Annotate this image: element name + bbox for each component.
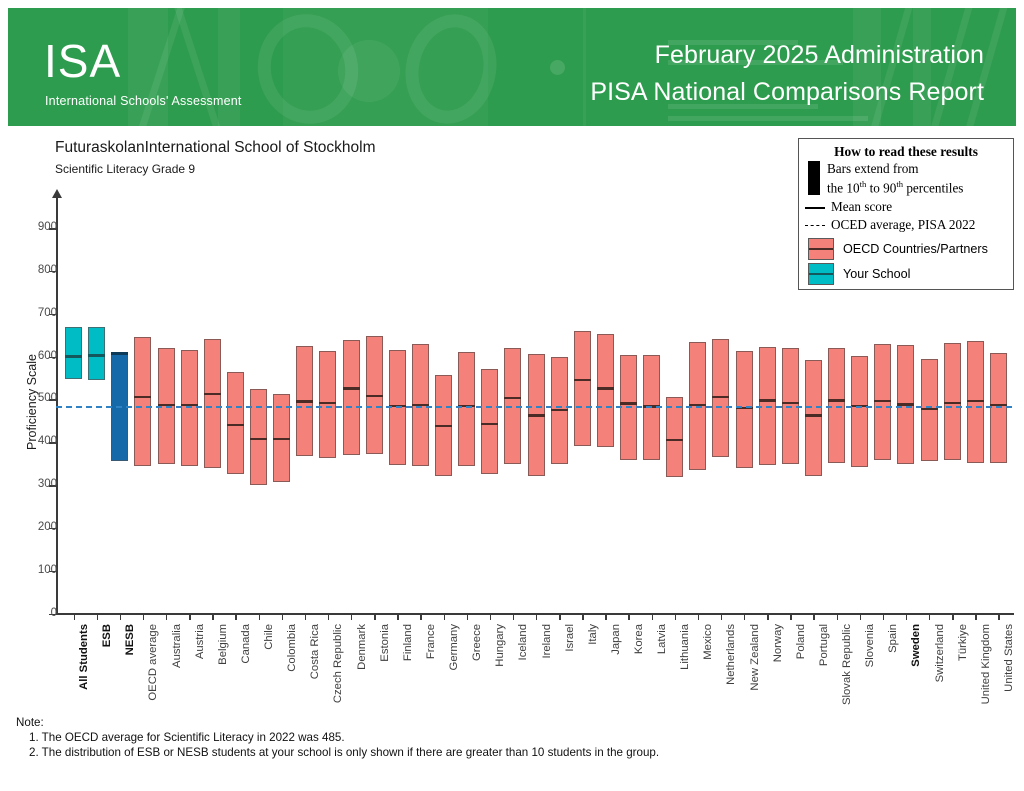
bar-new-zealand [736, 351, 753, 468]
x-axis-label-germany: Germany [448, 624, 460, 670]
legend-bars-post: percentiles [903, 180, 963, 195]
bar-belgium [204, 339, 221, 468]
mean-line-canada [227, 424, 244, 426]
x-axis-label-israel: Israel [564, 624, 576, 652]
bar-lithuania [666, 397, 683, 477]
x-axis-label-new-zealand: New Zealand [749, 624, 761, 691]
x-axis-label-korea: Korea [633, 624, 645, 654]
x-axis-label-hungary: Hungary [494, 624, 506, 667]
y-tick-400: 400 [0, 442, 57, 443]
x-axis-label-canada: Canada [240, 624, 252, 664]
x-tick-mark [490, 613, 491, 620]
x-axis-label-australia: Australia [171, 624, 183, 668]
bar-all-students [65, 327, 82, 378]
x-axis-label-norway: Norway [772, 624, 784, 662]
mean-line-korea [620, 402, 637, 404]
mean-line-hungary [481, 423, 498, 425]
y-tick-label: 600 [15, 350, 57, 362]
x-axis-label-slovak-republic: Slovak Republic [841, 624, 853, 705]
chart-plot-area: Proficiency Scale 0100200300400500600700… [0, 0, 1024, 791]
report-page: ISA International Schools' Assessment Fe… [0, 0, 1024, 791]
mean-line-italy [574, 379, 591, 381]
x-axis-label-nesb: NESB [124, 624, 136, 655]
bar-italy [574, 331, 591, 447]
x-axis-label-oecd-average: OECD average [147, 624, 159, 701]
legend-oecd-average-label: OCED average, PISA 2022 [831, 217, 975, 233]
x-tick-mark [998, 613, 999, 620]
legend-mean-line-icon [805, 207, 825, 209]
y-tick-label: 200 [15, 521, 57, 533]
notes-heading: Note: [16, 715, 659, 730]
x-axis-label-chile: Chile [263, 624, 275, 650]
x-tick-mark [259, 613, 260, 620]
bar-greece [458, 352, 475, 466]
mean-line-slovak-republic [828, 399, 845, 401]
x-axis-label-belgium: Belgium [217, 624, 229, 665]
legend-dashed-line-icon [805, 225, 825, 226]
mean-line-estonia [366, 395, 383, 397]
x-axis-label-t-rkiye: Türkiye [957, 624, 969, 661]
oecd-average-dashed-line [56, 406, 1012, 408]
x-tick-mark [582, 613, 583, 620]
legend-bars-pre: the 10 [827, 180, 860, 195]
bar-oecd-average [134, 337, 151, 466]
mean-line-all-students [65, 355, 82, 357]
x-tick-mark [813, 613, 814, 620]
x-axis-label-poland: Poland [795, 624, 807, 659]
mean-line-spain [874, 400, 891, 402]
x-tick-mark [513, 613, 514, 620]
legend-box: How to read these results Bars extend fr… [798, 138, 1014, 290]
x-tick-mark [744, 613, 745, 620]
mean-line-nesb [111, 352, 128, 354]
mean-line-germany [435, 425, 452, 427]
x-axis-label-all-students: All Students [78, 624, 90, 690]
x-axis-label-japan: Japan [610, 624, 622, 655]
legend-bars-line1: Bars extend from [827, 161, 919, 177]
legend-bar-swatch-icon [808, 161, 820, 195]
x-axis-line [56, 613, 1014, 615]
legend-your-school-label: Your School [843, 267, 910, 281]
legend-swatch-mean-line [809, 273, 833, 275]
legend-title: How to read these results [799, 144, 1013, 160]
bar-switzerland [921, 359, 938, 462]
x-tick-mark [189, 613, 190, 620]
y-tick-label: 700 [15, 307, 57, 319]
x-tick-mark [444, 613, 445, 620]
mean-line-poland [782, 402, 799, 404]
y-tick-label: 400 [15, 435, 57, 447]
x-tick-mark [74, 613, 75, 620]
y-tick-label: 500 [15, 392, 57, 404]
y-tick-200: 200 [0, 528, 57, 529]
x-axis-label-mexico: Mexico [702, 624, 714, 660]
bar-united-states [990, 353, 1007, 463]
mean-line-netherlands [712, 396, 729, 398]
x-tick-mark [235, 613, 236, 620]
x-axis-label-esb: ESB [101, 624, 113, 647]
x-tick-mark [120, 613, 121, 620]
mean-line-united-kingdom [967, 400, 984, 402]
x-axis-label-netherlands: Netherlands [725, 624, 737, 685]
y-tick-300: 300 [0, 485, 57, 486]
x-tick-mark [282, 613, 283, 620]
x-tick-mark [883, 613, 884, 620]
x-tick-mark [559, 613, 560, 620]
legend-bars-line2: the 10th to 90th percentiles [827, 179, 963, 196]
bar-denmark [343, 340, 360, 455]
y-tick-800: 800 [0, 271, 57, 272]
x-axis-label-united-kingdom: United Kingdom [980, 624, 992, 704]
y-tick-700: 700 [0, 314, 57, 315]
bar-japan [597, 334, 614, 448]
note-1: 1. The OECD average for Scientific Liter… [16, 730, 659, 745]
x-tick-mark [420, 613, 421, 620]
mean-line-denmark [343, 387, 360, 389]
x-axis-label-latvia: Latvia [656, 624, 668, 654]
mean-line-norway [759, 399, 776, 401]
x-tick-mark [767, 613, 768, 620]
y-tick-label: 900 [15, 221, 57, 233]
mean-line-oecd-average [134, 396, 151, 398]
bar-slovenia [851, 356, 868, 467]
y-tick-500: 500 [0, 399, 57, 400]
mean-line-czech-republic [319, 402, 336, 404]
x-tick-mark [397, 613, 398, 620]
x-tick-mark [605, 613, 606, 620]
mean-line-lithuania [666, 439, 683, 441]
x-axis-label-italy: Italy [587, 624, 599, 645]
x-tick-mark [675, 613, 676, 620]
legend-swatch-oecd-countries [808, 238, 834, 260]
x-tick-mark [906, 613, 907, 620]
x-tick-mark [328, 613, 329, 620]
y-tick-600: 600 [0, 357, 57, 358]
x-axis-label-sweden: Sweden [910, 624, 922, 667]
x-tick-mark [143, 613, 144, 620]
mean-line-t-rkiye [944, 402, 961, 404]
legend-mean-label: Mean score [831, 199, 892, 215]
x-axis-label-austria: Austria [194, 624, 206, 659]
x-axis-label-france: France [425, 624, 437, 659]
legend-bars-mid: to 90 [866, 180, 896, 195]
x-axis-label-costa-rica: Costa Rica [309, 624, 321, 679]
mean-line-ireland [528, 414, 545, 416]
mean-line-costa-rica [296, 400, 313, 402]
mean-line-switzerland [921, 408, 938, 410]
x-axis-label-czech-republic: Czech Republic [332, 624, 344, 703]
mean-line-belgium [204, 393, 221, 395]
x-tick-mark [351, 613, 352, 620]
mean-line-japan [597, 387, 614, 389]
x-axis-label-united-states: United States [1003, 624, 1015, 692]
y-tick-0: 0 [0, 614, 57, 615]
x-tick-mark [837, 613, 838, 620]
x-tick-mark [305, 613, 306, 620]
x-axis-label-colombia: Colombia [286, 624, 298, 672]
x-axis-label-denmark: Denmark [356, 624, 368, 670]
x-tick-mark [652, 613, 653, 620]
x-axis-label-estonia: Estonia [379, 624, 391, 662]
x-axis-label-slovenia: Slovenia [864, 624, 876, 667]
x-axis-label-lithuania: Lithuania [679, 624, 691, 670]
mean-line-portugal [805, 414, 822, 416]
y-tick-label: 300 [15, 478, 57, 490]
x-tick-mark [467, 613, 468, 620]
x-tick-mark [860, 613, 861, 620]
x-axis-label-spain: Spain [887, 624, 899, 653]
x-tick-mark [929, 613, 930, 620]
mean-line-esb [88, 354, 105, 356]
x-tick-mark [721, 613, 722, 620]
y-tick-label: 0 [15, 607, 57, 619]
x-tick-mark [975, 613, 976, 620]
x-tick-mark [536, 613, 537, 620]
x-tick-mark [166, 613, 167, 620]
x-tick-mark [212, 613, 213, 620]
mean-line-iceland [504, 397, 521, 399]
x-axis-label-greece: Greece [471, 624, 483, 661]
legend-swatch-mean-line [809, 248, 833, 250]
mean-line-israel [551, 409, 568, 411]
mean-line-colombia [273, 438, 290, 440]
x-axis-label-switzerland: Switzerland [934, 624, 946, 682]
y-tick-900: 900 [0, 228, 57, 229]
x-axis-label-portugal: Portugal [818, 624, 830, 666]
x-tick-mark [952, 613, 953, 620]
x-axis-label-finland: Finland [402, 624, 414, 661]
x-tick-mark [374, 613, 375, 620]
mean-line-chile [250, 438, 267, 440]
y-tick-100: 100 [0, 571, 57, 572]
y-tick-label: 100 [15, 564, 57, 576]
x-tick-mark [790, 613, 791, 620]
y-tick-label: 800 [15, 264, 57, 276]
x-axis-label-ireland: Ireland [541, 624, 553, 659]
bar-portugal [805, 360, 822, 476]
x-axis-label-iceland: Iceland [517, 624, 529, 660]
x-tick-mark [628, 613, 629, 620]
notes-block: Note: 1. The OECD average for Scientific… [16, 715, 659, 760]
legend-swatch-your-school [808, 263, 834, 285]
note-2: 2. The distribution of ESB or NESB stude… [16, 745, 659, 760]
x-tick-mark [698, 613, 699, 620]
legend-oecd-countries-label: OECD Countries/Partners [843, 242, 988, 256]
x-tick-mark [97, 613, 98, 620]
